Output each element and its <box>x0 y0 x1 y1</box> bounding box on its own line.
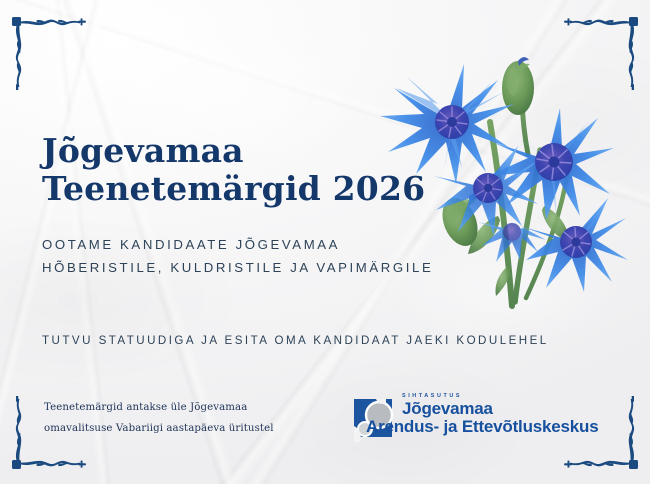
filigree-corner-ornament-icon <box>10 10 88 90</box>
footnote-line-1: Teenetemärgid antakse üle Jõgevamaa <box>44 398 344 419</box>
page-title-line-2: Teenetemärgid 2026 <box>42 170 472 208</box>
subheadline-line-2: HÕBERISTILE, KULDRISTILE JA VAPIMÄRGILE <box>42 257 562 280</box>
footnote-line-2: omavalitsuse Vabariigi aastapäeva üritus… <box>44 419 344 440</box>
subheadline-line-1: OOTAME KANDIDAATE JÕGEVAMAA <box>42 234 562 257</box>
subheadline: OOTAME KANDIDAATE JÕGEVAMAA HÕBERISTILE,… <box>42 234 562 279</box>
logo-wordmark: SIHTASUTUS Jõgevamaa Arendus- ja Ettevõt… <box>400 392 598 435</box>
page-title-line-1: Jõgevamaa <box>42 131 244 170</box>
organisation-logo[interactable]: SIHTASUTUS Jõgevamaa Arendus- ja Ettevõt… <box>352 392 598 442</box>
logo-line-1: Jõgevamaa <box>400 400 598 417</box>
logo-line-2: Arendus- ja Ettevõtluskeskus <box>366 418 598 436</box>
page-title: Jõgevamaa Teenetemärgid 2026 <box>42 132 472 209</box>
poster-canvas: Jõgevamaa Teenetemärgid 2026 OOTAME KAND… <box>0 0 650 484</box>
footnote: Teenetemärgid antakse üle Jõgevamaa omav… <box>44 398 344 440</box>
call-to-action-text: TUTVU STATUUDIGA JA ESITA OMA KANDIDAAT … <box>42 334 622 347</box>
